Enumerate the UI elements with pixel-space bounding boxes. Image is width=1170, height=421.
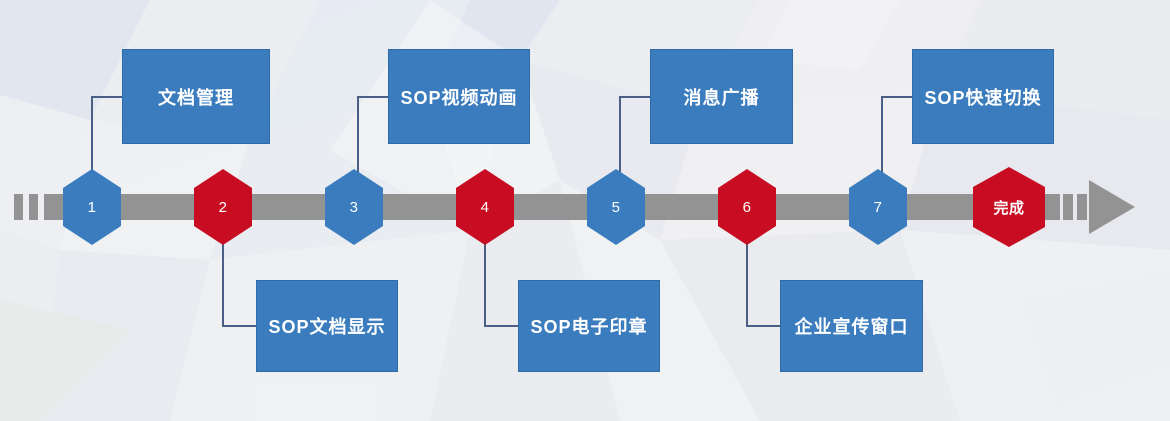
timeline-node-label: 4 [481,199,490,216]
rail-dash-right-1 [1063,194,1073,220]
card-label: SOP视频动画 [400,84,517,110]
card-sop-document-display[interactable]: SOP文档显示 [256,280,398,372]
connector-n6 [746,240,748,326]
card-sop-electronic-seal[interactable]: SOP电子印章 [518,280,660,372]
connector-n2-h [222,325,257,327]
card-message-broadcast[interactable]: 消息广播 [650,49,793,144]
rail-dash-right-2 [1077,194,1087,220]
diagram-canvas: 1 2 3 4 5 6 7 完成 文档管理 SOP视频动画 消息广播 SOP快速… [0,0,1170,421]
card-label: SOP文档显示 [268,313,385,339]
rail-dash-left-3 [44,194,66,220]
card-sop-video-animation[interactable]: SOP视频动画 [388,49,530,144]
timeline-node-label: 2 [219,199,228,216]
card-label: 企业宣传窗口 [795,313,909,339]
card-label: SOP快速切换 [924,84,1041,110]
connector-n4 [484,240,486,326]
rail-dash-left-1 [14,194,23,220]
timeline-node-label: 5 [612,199,621,216]
connector-n3-h [357,96,389,98]
timeline-node-label: 6 [743,199,752,216]
connector-n1 [91,96,93,178]
connector-n1-h [91,96,123,98]
card-sop-quick-switch[interactable]: SOP快速切换 [912,49,1054,144]
card-label: SOP电子印章 [530,313,647,339]
connector-n2 [222,240,224,326]
card-document-management[interactable]: 文档管理 [122,49,270,144]
connector-n4-h [484,325,519,327]
connector-n7-h [881,96,913,98]
card-label: 消息广播 [684,84,760,110]
connector-n7 [881,96,883,178]
timeline-node-label: 完成 [993,197,1024,218]
card-enterprise-promo-window[interactable]: 企业宣传窗口 [780,280,923,372]
connector-n6-h [746,325,781,327]
timeline-node-label: 1 [88,199,97,216]
timeline-node-label: 3 [350,199,359,216]
connector-n3 [357,96,359,178]
rail-arrow-icon [1089,180,1135,234]
rail-dash-left-2 [29,194,38,220]
connector-n5-h [619,96,651,98]
card-label: 文档管理 [158,84,234,110]
connector-n5 [619,96,621,178]
timeline-node-label: 7 [874,199,883,216]
